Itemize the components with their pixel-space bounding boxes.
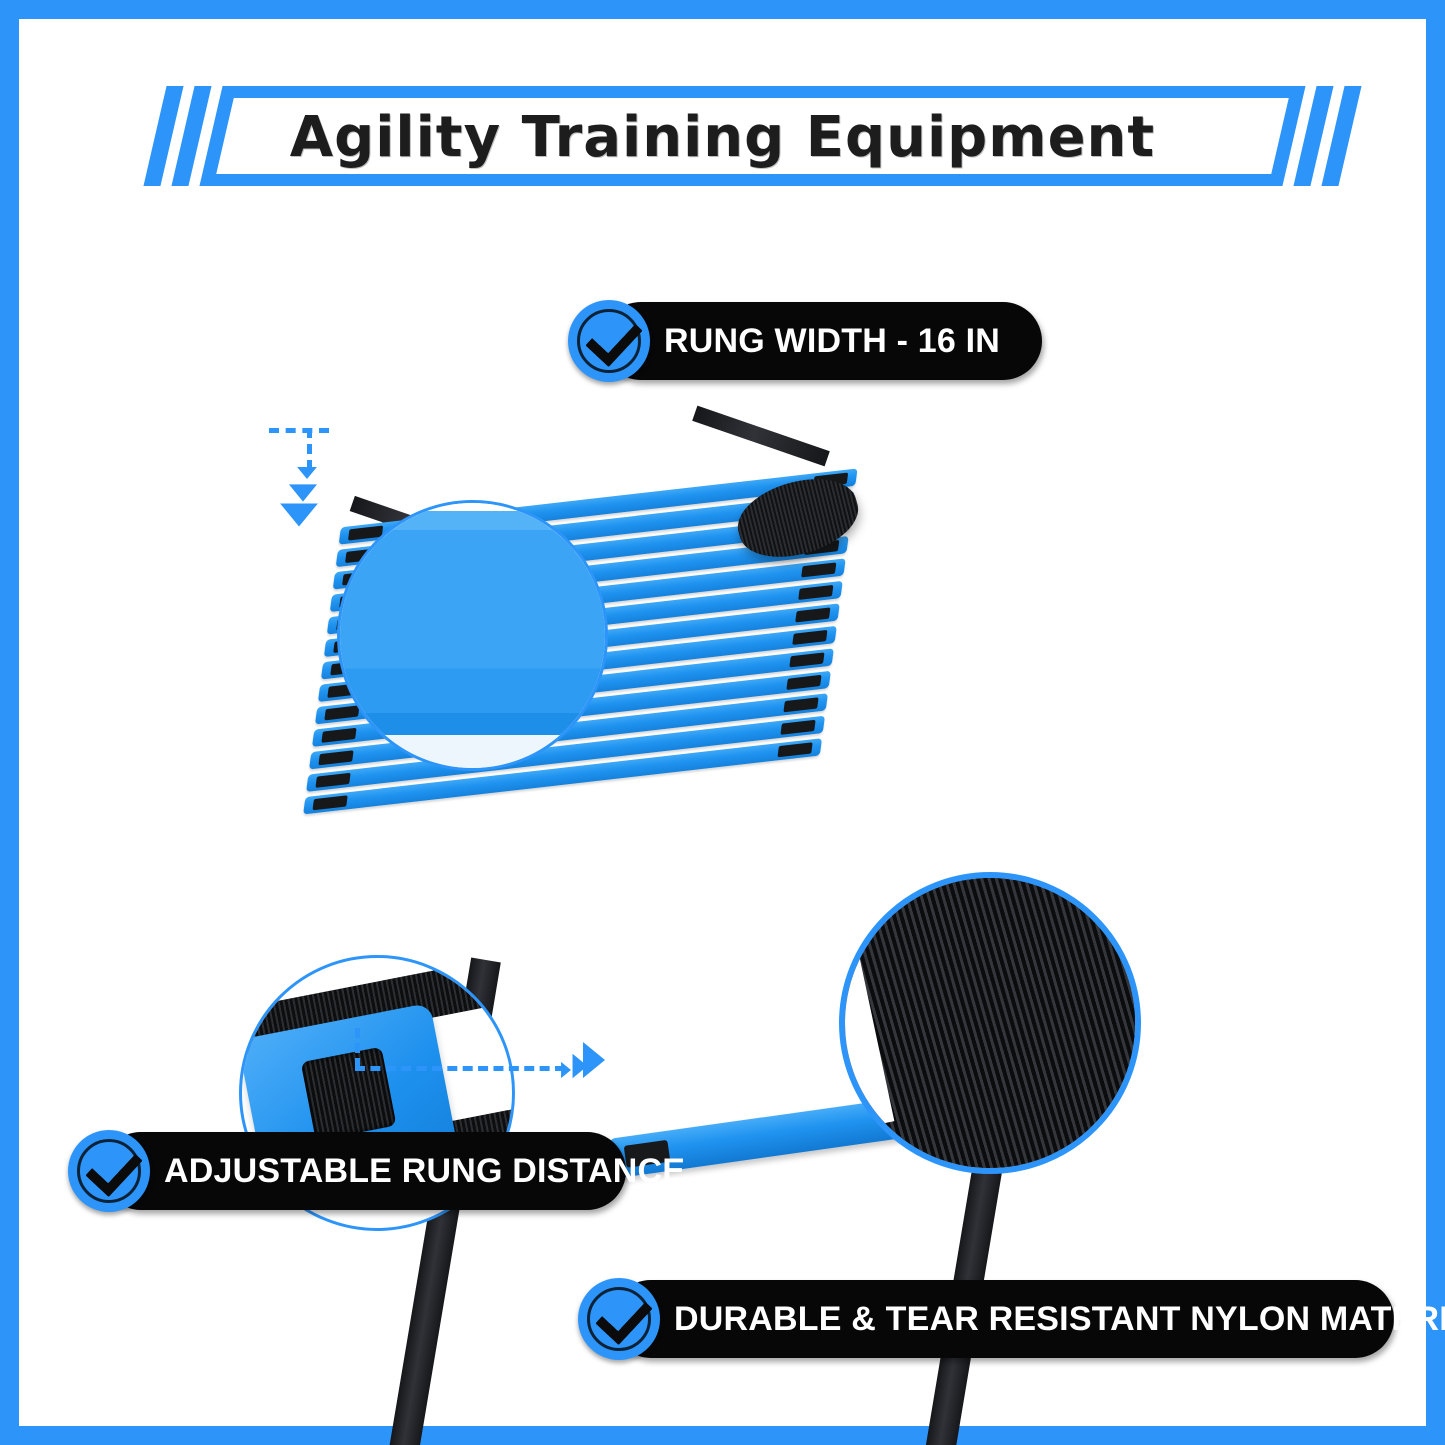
frame-border-right [1426,0,1445,1445]
frame-border-top [0,0,1445,19]
dashed-line-h [269,428,329,433]
chevron-down-icon [297,467,317,479]
check-circle-icon [68,1130,150,1212]
product-illustration [19,200,1426,1426]
nylon-weave-closeup [839,872,1141,1174]
nylon-strap-upper-right [692,406,830,467]
frame-border-left [0,0,19,1445]
rung-surface-closeup [337,500,608,771]
page-title: Agility Training Equipment [0,78,1445,196]
magnifier-nylon-weave [839,872,1141,1174]
chevron-right-icon [561,1062,571,1078]
infographic-page: Agility Training Equipment [0,0,1445,1445]
chevron-down-icon [289,484,317,501]
strap-slot [301,1047,397,1141]
feature-label: ADJUSTABLE RUNG DISTANCE [68,1132,719,1210]
dashed-line-v [355,1028,360,1068]
dashed-line-h [355,1066,565,1071]
chevron-right-icon [583,1042,605,1078]
check-circle-icon [568,300,650,382]
frame-border-bottom [0,1426,1445,1445]
magnifier-rung-width [337,500,608,771]
chevron-down-icon [280,503,318,526]
feature-badge-adjustable-rung[interactable]: ADJUSTABLE RUNG DISTANCE [68,1132,719,1210]
feature-label: DURABLE & TEAR RESISTANT NYLON MATERIAL [578,1280,1445,1358]
check-circle-icon [578,1278,660,1360]
dashed-line-v [307,428,312,470]
feature-badge-nylon-material[interactable]: DURABLE & TEAR RESISTANT NYLON MATERIAL [578,1280,1445,1358]
feature-badge-rung-width[interactable]: RUNG WIDTH - 16 IN [568,302,1034,380]
